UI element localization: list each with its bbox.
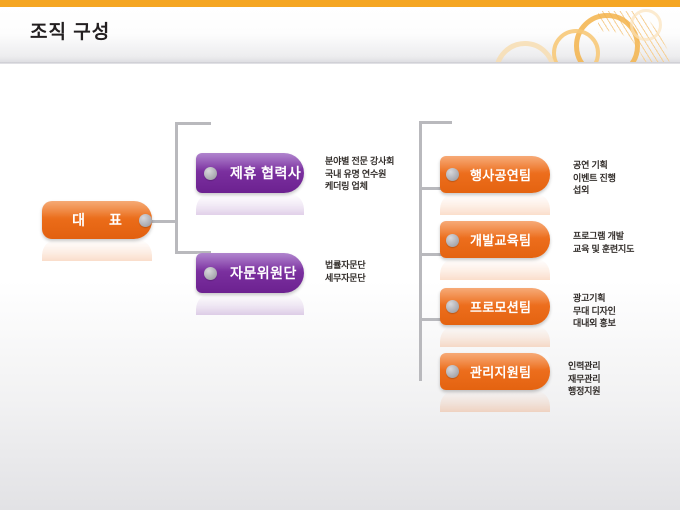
org-node-root-label: 대 표 bbox=[42, 201, 152, 239]
header-decoration bbox=[480, 7, 680, 63]
connector-dot-root bbox=[139, 214, 152, 227]
team-2-reflection bbox=[440, 325, 550, 347]
top-accent-bar bbox=[0, 0, 680, 7]
team-1-reflection bbox=[440, 258, 550, 280]
connector-team-1 bbox=[419, 121, 452, 124]
connector-dot-team-0 bbox=[446, 168, 459, 181]
org-node-branch-0-details: 분야별 전문 강사회 국내 유명 연수원 케더링 업체 bbox=[325, 155, 420, 193]
org-chart: 대 표 제휴 협력사 분야별 전문 강사회 국내 유명 연수원 케더링 업체 자… bbox=[0, 63, 680, 510]
connector-branch-1 bbox=[175, 122, 211, 125]
org-node-team-3-details: 인력관리 재무관리 행정지원 bbox=[568, 360, 663, 398]
branch-0-reflection bbox=[196, 193, 304, 215]
org-node-team-2-details: 광고기획 무대 디자인 대내외 홍보 bbox=[573, 292, 668, 330]
team-3-reflection bbox=[440, 390, 550, 412]
circle-decoration-3 bbox=[494, 41, 556, 63]
connector-dot-branch-0 bbox=[204, 167, 217, 180]
branch-1-reflection bbox=[196, 293, 304, 315]
connector-dot-team-1 bbox=[446, 234, 459, 247]
org-node-branch-1-details: 법률자문단 세무자문단 bbox=[325, 259, 420, 284]
circle-decoration-4 bbox=[630, 9, 662, 41]
team-0-reflection bbox=[440, 193, 550, 215]
connector-dot-team-2 bbox=[446, 300, 459, 313]
org-node-team-1-details: 프로그램 개발 교육 및 훈련지도 bbox=[573, 230, 668, 255]
org-node-root[interactable]: 대 표 bbox=[42, 201, 152, 239]
connector-root-stem bbox=[150, 220, 178, 223]
connector-purple-trunk bbox=[175, 122, 178, 253]
org-node-team-0-details: 공연 기획 이벤트 진행 섭외 bbox=[573, 159, 668, 197]
connector-dot-team-3 bbox=[446, 365, 459, 378]
connector-dot-branch-1 bbox=[204, 267, 217, 280]
page-title: 조직 구성 bbox=[30, 17, 110, 44]
root-reflection bbox=[42, 239, 152, 261]
